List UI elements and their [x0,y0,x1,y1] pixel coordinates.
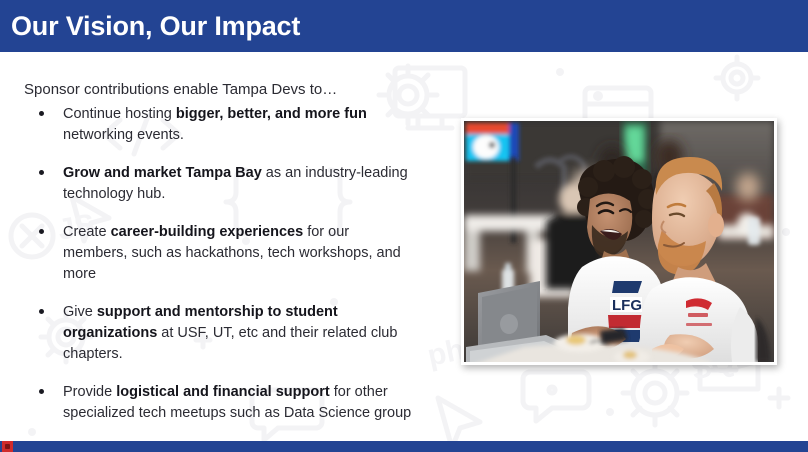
bullet-text-pre: Continue hosting [63,106,176,122]
footer-bar [0,441,808,452]
bullet-dot-icon [39,170,44,175]
bullet-text-bold: bigger, better, and more fun [176,106,367,122]
bullet-dot-icon [39,309,44,314]
bullet-dot-icon [39,229,44,234]
bullet-text-bold: logistical and financial support [116,384,330,400]
list-item: Give support and mentorship to student o… [24,302,416,365]
bullet-text-post: networking events. [63,127,184,143]
bullet-dot-icon [39,111,44,116]
svg-text:LFG: LFG [612,297,642,314]
bullet-text-bold: career-building experiences [111,224,304,240]
bullet-list: Continue hosting bigger, better, and mor… [24,104,416,452]
bullet-text-pre: Provide [63,384,116,400]
bullet-text-pre: Create [63,224,111,240]
tampa-devs-logo-icon [2,441,13,452]
slide: SQL php JS Our Vision, Our Impact Sponso… [0,0,808,452]
list-item: Grow and market Tampa Bay as an industry… [24,163,416,205]
logo-inner-mark [5,444,10,449]
list-item: Continue hosting bigger, better, and mor… [24,104,416,146]
list-item: Create career-building experiences for o… [24,222,416,285]
event-photo: LFG [464,121,774,362]
bullet-dot-icon [39,389,44,394]
bullet-text-pre: Give [63,304,97,320]
page-title: Our Vision, Our Impact [11,9,300,43]
intro-line: Sponsor contributions enable Tampa Devs … [24,80,337,100]
list-item: Provide logistical and financial support… [24,382,416,424]
bullet-text-bold: Grow and market Tampa Bay [63,165,262,181]
slide-title-bar: Our Vision, Our Impact [0,0,808,52]
event-photo-frame: LFG [461,118,777,365]
